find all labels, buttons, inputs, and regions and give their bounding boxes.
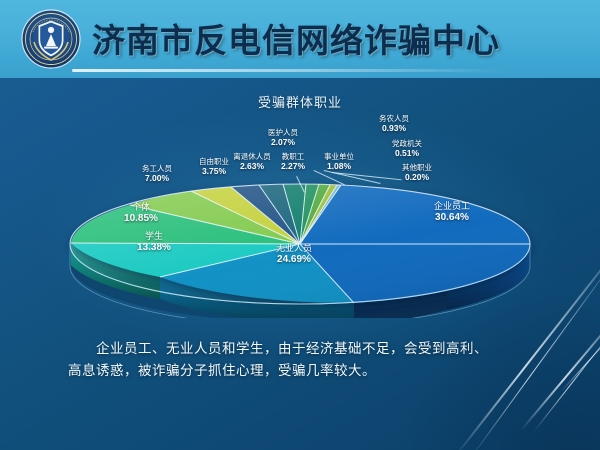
decorative-streak	[533, 330, 600, 433]
pie-chart	[38, 118, 562, 318]
decorative-streak	[560, 325, 600, 393]
slide-header: 济南市反电信网络诈骗中心	[0, 0, 600, 78]
police-emblem-icon	[20, 8, 82, 70]
summary-paragraph: 企业员工、无业人员和学生，由于经济基础不足，会受到高利、高息诱惑，被诈骗分子抓住…	[68, 338, 488, 382]
header-underline-divider	[72, 69, 502, 72]
pie-chart-svg	[38, 118, 562, 318]
header-title: 济南市反电信网络诈骗中心	[92, 14, 500, 62]
chart-title: 受骗群体职业	[0, 92, 600, 111]
presentation-slide: 济南市反电信网络诈骗中心 受骗群体职业	[0, 0, 600, 450]
decorative-streak	[520, 315, 600, 431]
